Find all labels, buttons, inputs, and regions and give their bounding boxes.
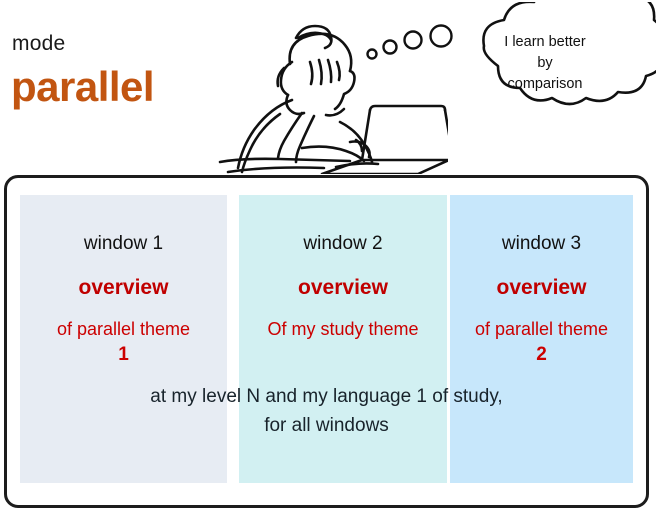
- caption-line-2: for all windows: [4, 412, 649, 441]
- window-panel-2-subtitle: Of my study theme: [239, 318, 447, 342]
- window-panel-3-heading: overview: [450, 277, 633, 298]
- thought-bubble-text: I learn better by comparison: [470, 32, 620, 95]
- caption-line-1: at my level N and my language 1 of study…: [150, 386, 502, 407]
- window-panel-3-emphasis: 2: [450, 342, 633, 367]
- window-panel-1-title: window 1: [20, 234, 227, 253]
- window-panel-2-heading: overview: [239, 277, 447, 298]
- window-panel-1-heading: overview: [20, 277, 227, 298]
- thought-bubble-line-3: comparison: [508, 76, 583, 92]
- window-panel-3-title: window 3: [450, 234, 633, 253]
- thought-bubble-line-1: I learn better: [504, 34, 585, 50]
- thought-bubble-line-2: by: [537, 55, 552, 71]
- window-panel-1-subtitle: of parallel theme 1: [20, 318, 227, 367]
- mode-label: mode: [12, 33, 65, 54]
- window-panel-1-emphasis: 1: [20, 342, 227, 367]
- window-panel-3-subtitle-text: of parallel theme: [475, 319, 608, 339]
- window-panel-2-subtitle-text: Of my study theme: [267, 319, 418, 339]
- windows-container: window 1 overview of parallel theme 1 wi…: [4, 175, 649, 508]
- header: mode parallel: [0, 0, 656, 175]
- window-panel-1-subtitle-text: of parallel theme: [57, 319, 190, 339]
- window-panel-2-title: window 2: [239, 234, 447, 253]
- window-panel-3-subtitle: of parallel theme 2: [450, 318, 633, 367]
- mode-value: parallel: [11, 66, 154, 108]
- shared-caption: at my level N and my language 1 of study…: [4, 383, 649, 440]
